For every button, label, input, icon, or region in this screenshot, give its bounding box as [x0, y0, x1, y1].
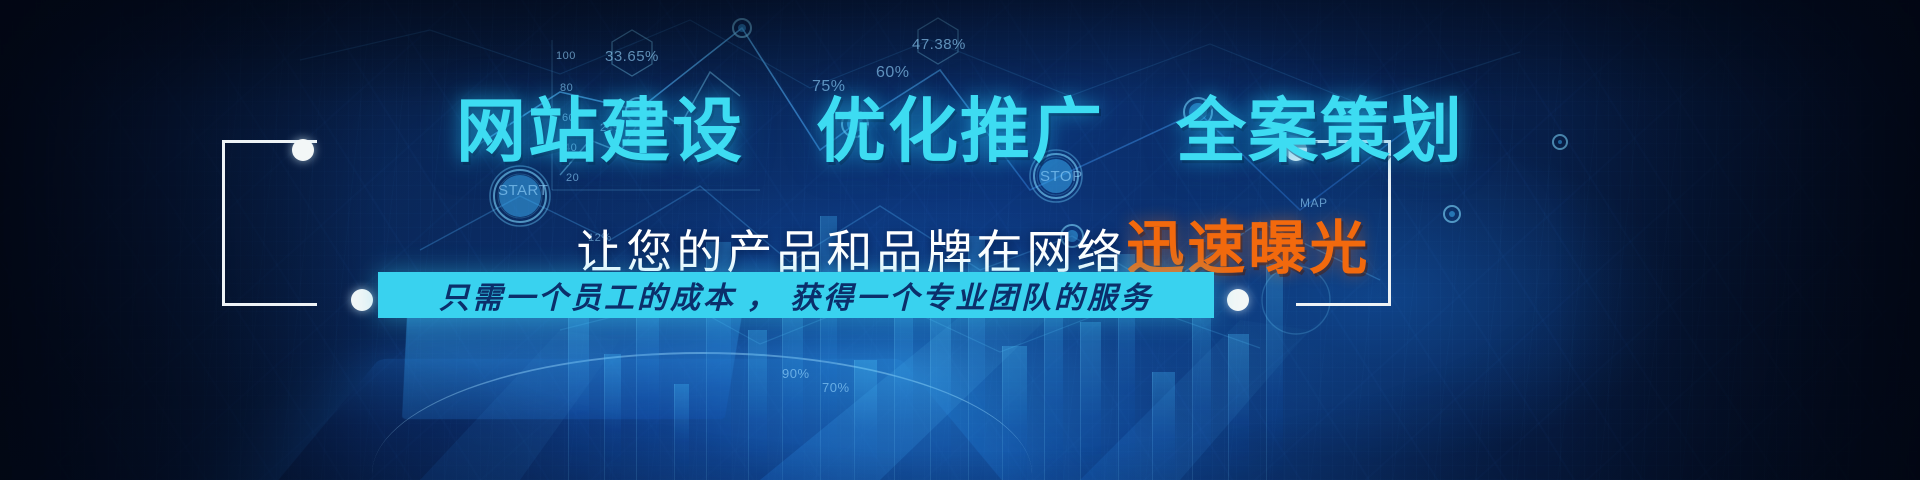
banner-headline: 网站建设 优化推广 全案策划 [0, 96, 1920, 166]
tagline-ribbon: 只需一个员工的成本 ， 获得一个专业团队的服务 [378, 272, 1214, 318]
banner-content: 网站建设 优化推广 全案策划 让您的产品和品牌在网络迅速曝光 只需一个员工的成本… [0, 0, 1920, 480]
tagline-text: 只需一个员工的成本 ， 获得一个专业团队的服务 [439, 273, 1153, 317]
subheadline-plain-text: 让您的产品和品牌在网络 [576, 226, 1126, 278]
promo-banner: 33.65%47.38%10080604020STARTSTOP75%60%90… [0, 0, 1920, 480]
